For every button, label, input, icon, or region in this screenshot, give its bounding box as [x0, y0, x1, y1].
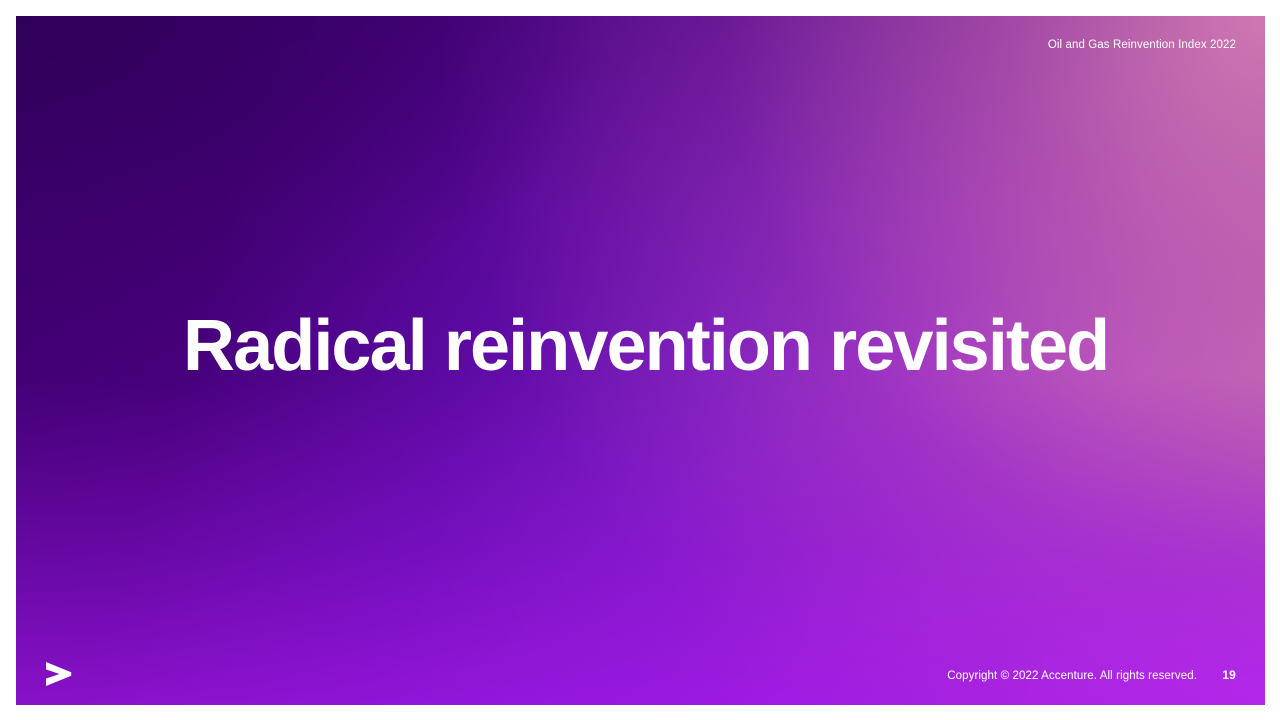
page-number: 19 [1220, 668, 1236, 682]
footer-right-group: Copyright © 2022 Accenture. All rights r… [947, 668, 1236, 683]
slide-canvas: Oil and Gas Reinvention Index 2022 Radic… [16, 16, 1265, 705]
slide-root: Oil and Gas Reinvention Index 2022 Radic… [0, 0, 1280, 720]
slide-footer: Copyright © 2022 Accenture. All rights r… [16, 635, 1265, 705]
title-block: Radical reinvention revisited [183, 302, 1145, 390]
page-title: Radical reinvention revisited [183, 302, 1145, 390]
slide-header: Oil and Gas Reinvention Index 2022 [1048, 38, 1236, 52]
header-report-label: Oil and Gas Reinvention Index 2022 [1048, 38, 1236, 52]
copyright-text: Copyright © 2022 Accenture. All rights r… [947, 669, 1197, 683]
accenture-chevron-icon [46, 662, 72, 686]
